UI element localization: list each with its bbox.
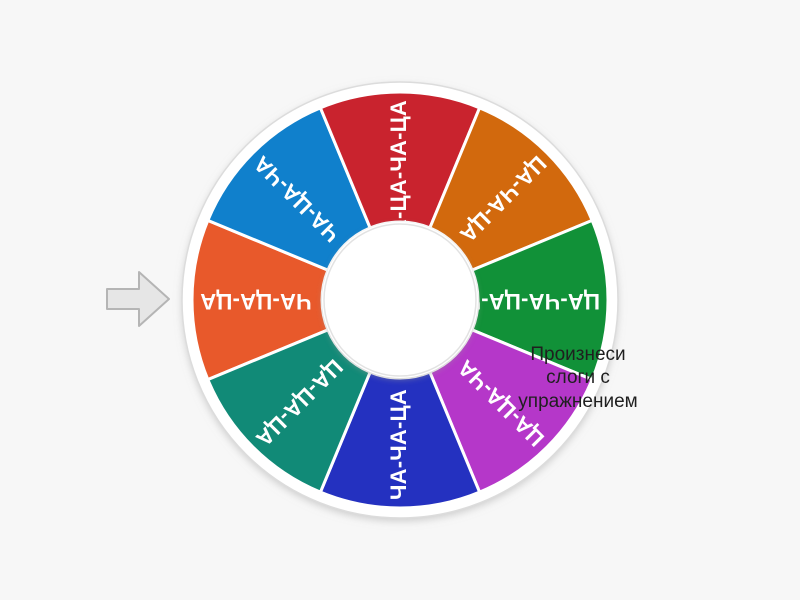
wheel-segment-label: ЧА-ЧА-ЦА — [386, 389, 411, 500]
wheel-hub-outline — [324, 224, 476, 376]
wheel-segment-label: ЧА-ЦА-ЦА — [200, 289, 312, 314]
wheel-pointer — [105, 268, 173, 330]
arrow-right-icon — [105, 268, 173, 330]
wheel-stage: ЧА-ЦА-ЦАЧА-ЦА-ЧАЧА-ЦА-ЧА-ЦАЦА-ЧА-ЦАЦА-ЧА… — [0, 0, 800, 600]
wheel-graphic[interactable]: ЧА-ЦА-ЦАЧА-ЦА-ЧАЧА-ЦА-ЧА-ЦАЦА-ЧА-ЦАЦА-ЧА… — [178, 78, 622, 522]
wheel-container[interactable]: ЧА-ЦА-ЦАЧА-ЦА-ЧАЧА-ЦА-ЧА-ЦАЦА-ЧА-ЦАЦА-ЧА… — [178, 78, 622, 522]
